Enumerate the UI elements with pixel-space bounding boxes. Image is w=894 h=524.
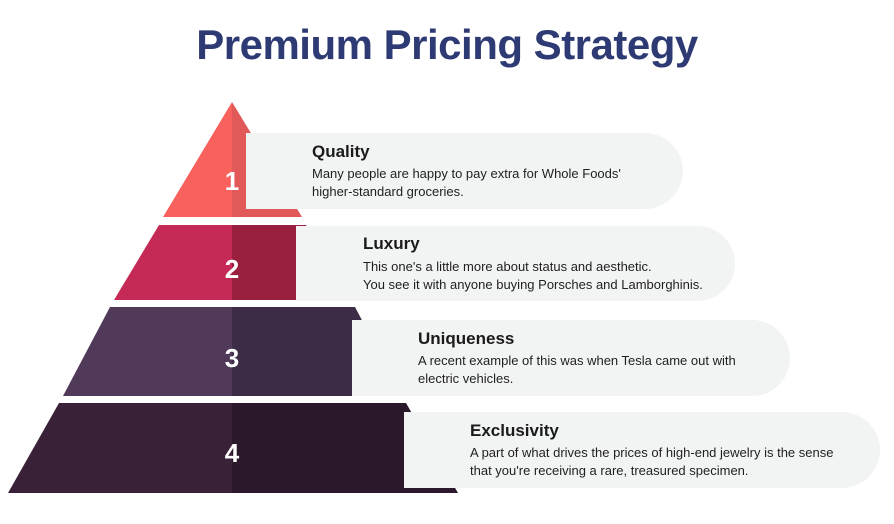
card-description-luxury: This one's a little more about status an… — [363, 258, 713, 294]
tier-3-left-face — [63, 307, 232, 396]
tier-4-left-face — [8, 403, 232, 493]
tier-1-left-face — [163, 102, 232, 217]
tier-2-left-face — [114, 225, 232, 300]
tier-2-number: 2 — [225, 254, 239, 284]
tier-4-number: 4 — [225, 438, 240, 468]
card-description-exclusivity: A part of what drives the prices of high… — [470, 444, 870, 480]
card-title-uniqueness: Uniqueness — [418, 328, 763, 349]
tier-3-number: 3 — [225, 343, 239, 373]
info-card-exclusivity[interactable]: Exclusivity A part of what drives the pr… — [404, 412, 880, 488]
card-description-quality: Many people are happy to pay extra for W… — [312, 165, 652, 201]
info-card-quality[interactable]: Quality Many people are happy to pay ext… — [246, 133, 683, 209]
tier-1-number: 1 — [225, 166, 239, 196]
pyramid-tier-4[interactable]: 4 — [8, 403, 458, 493]
card-title-quality: Quality — [312, 141, 652, 162]
card-description-uniqueness: A recent example of this was when Tesla … — [418, 352, 763, 388]
card-title-luxury: Luxury — [363, 233, 713, 254]
card-title-exclusivity: Exclusivity — [470, 420, 870, 441]
info-card-uniqueness[interactable]: Uniqueness A recent example of this was … — [352, 320, 790, 396]
info-card-luxury[interactable]: Luxury This one's a little more about st… — [296, 226, 735, 301]
